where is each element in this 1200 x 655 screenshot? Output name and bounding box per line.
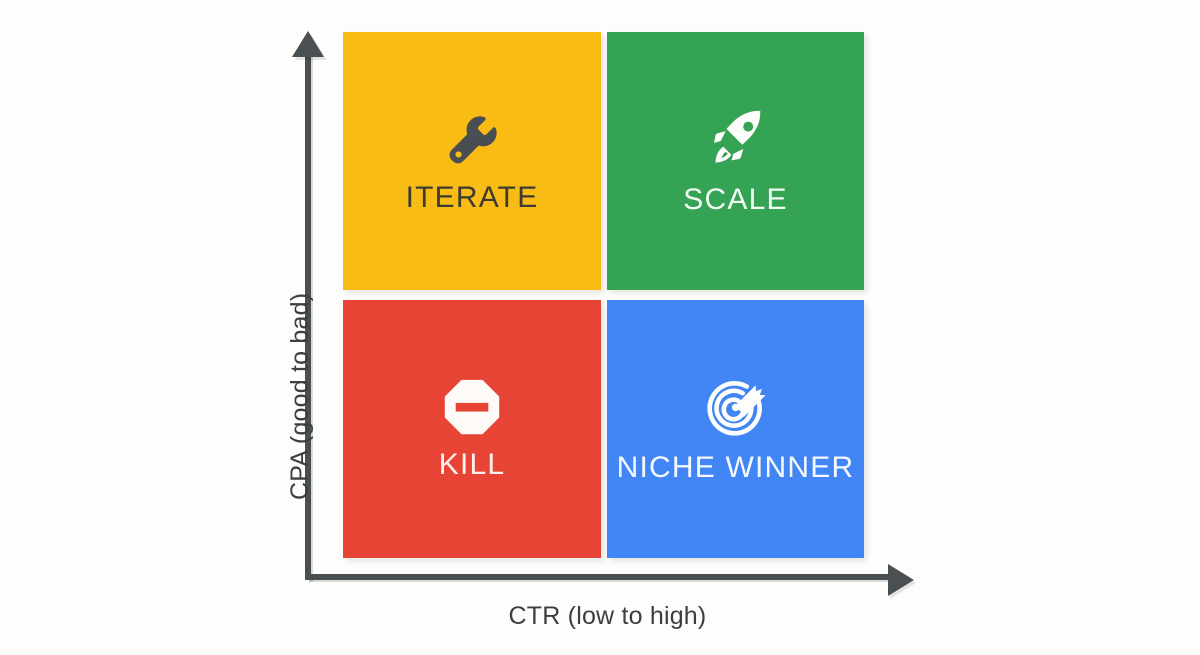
quadrant-label-kill: KILL xyxy=(439,450,506,480)
wrench-icon xyxy=(440,109,504,173)
quadrant-kill[interactable]: KILL xyxy=(343,300,601,558)
target-icon xyxy=(704,375,768,439)
quadrant-matrix-diagram: CPA (good to bad) CTR (low to high) ITER… xyxy=(0,0,1200,655)
arrow-up-icon xyxy=(292,31,324,57)
quadrant-scale[interactable]: SCALE xyxy=(607,32,864,290)
rocket-icon xyxy=(704,107,768,171)
x-axis-label: CTR (low to high) xyxy=(305,602,910,631)
quadrant-label-iterate: ITERATE xyxy=(406,183,539,213)
quadrant-niche-winner[interactable]: NICHE WINNER xyxy=(607,300,864,558)
x-axis-line xyxy=(305,574,894,580)
quadrant-label-niche-winner: NICHE WINNER xyxy=(617,453,855,483)
y-axis-label: CPA (good to bad) xyxy=(286,80,315,500)
arrow-right-icon xyxy=(888,564,914,596)
stop-sign-icon xyxy=(443,378,501,436)
quadrant-label-scale: SCALE xyxy=(683,185,787,215)
quadrant-iterate[interactable]: ITERATE xyxy=(343,32,601,290)
